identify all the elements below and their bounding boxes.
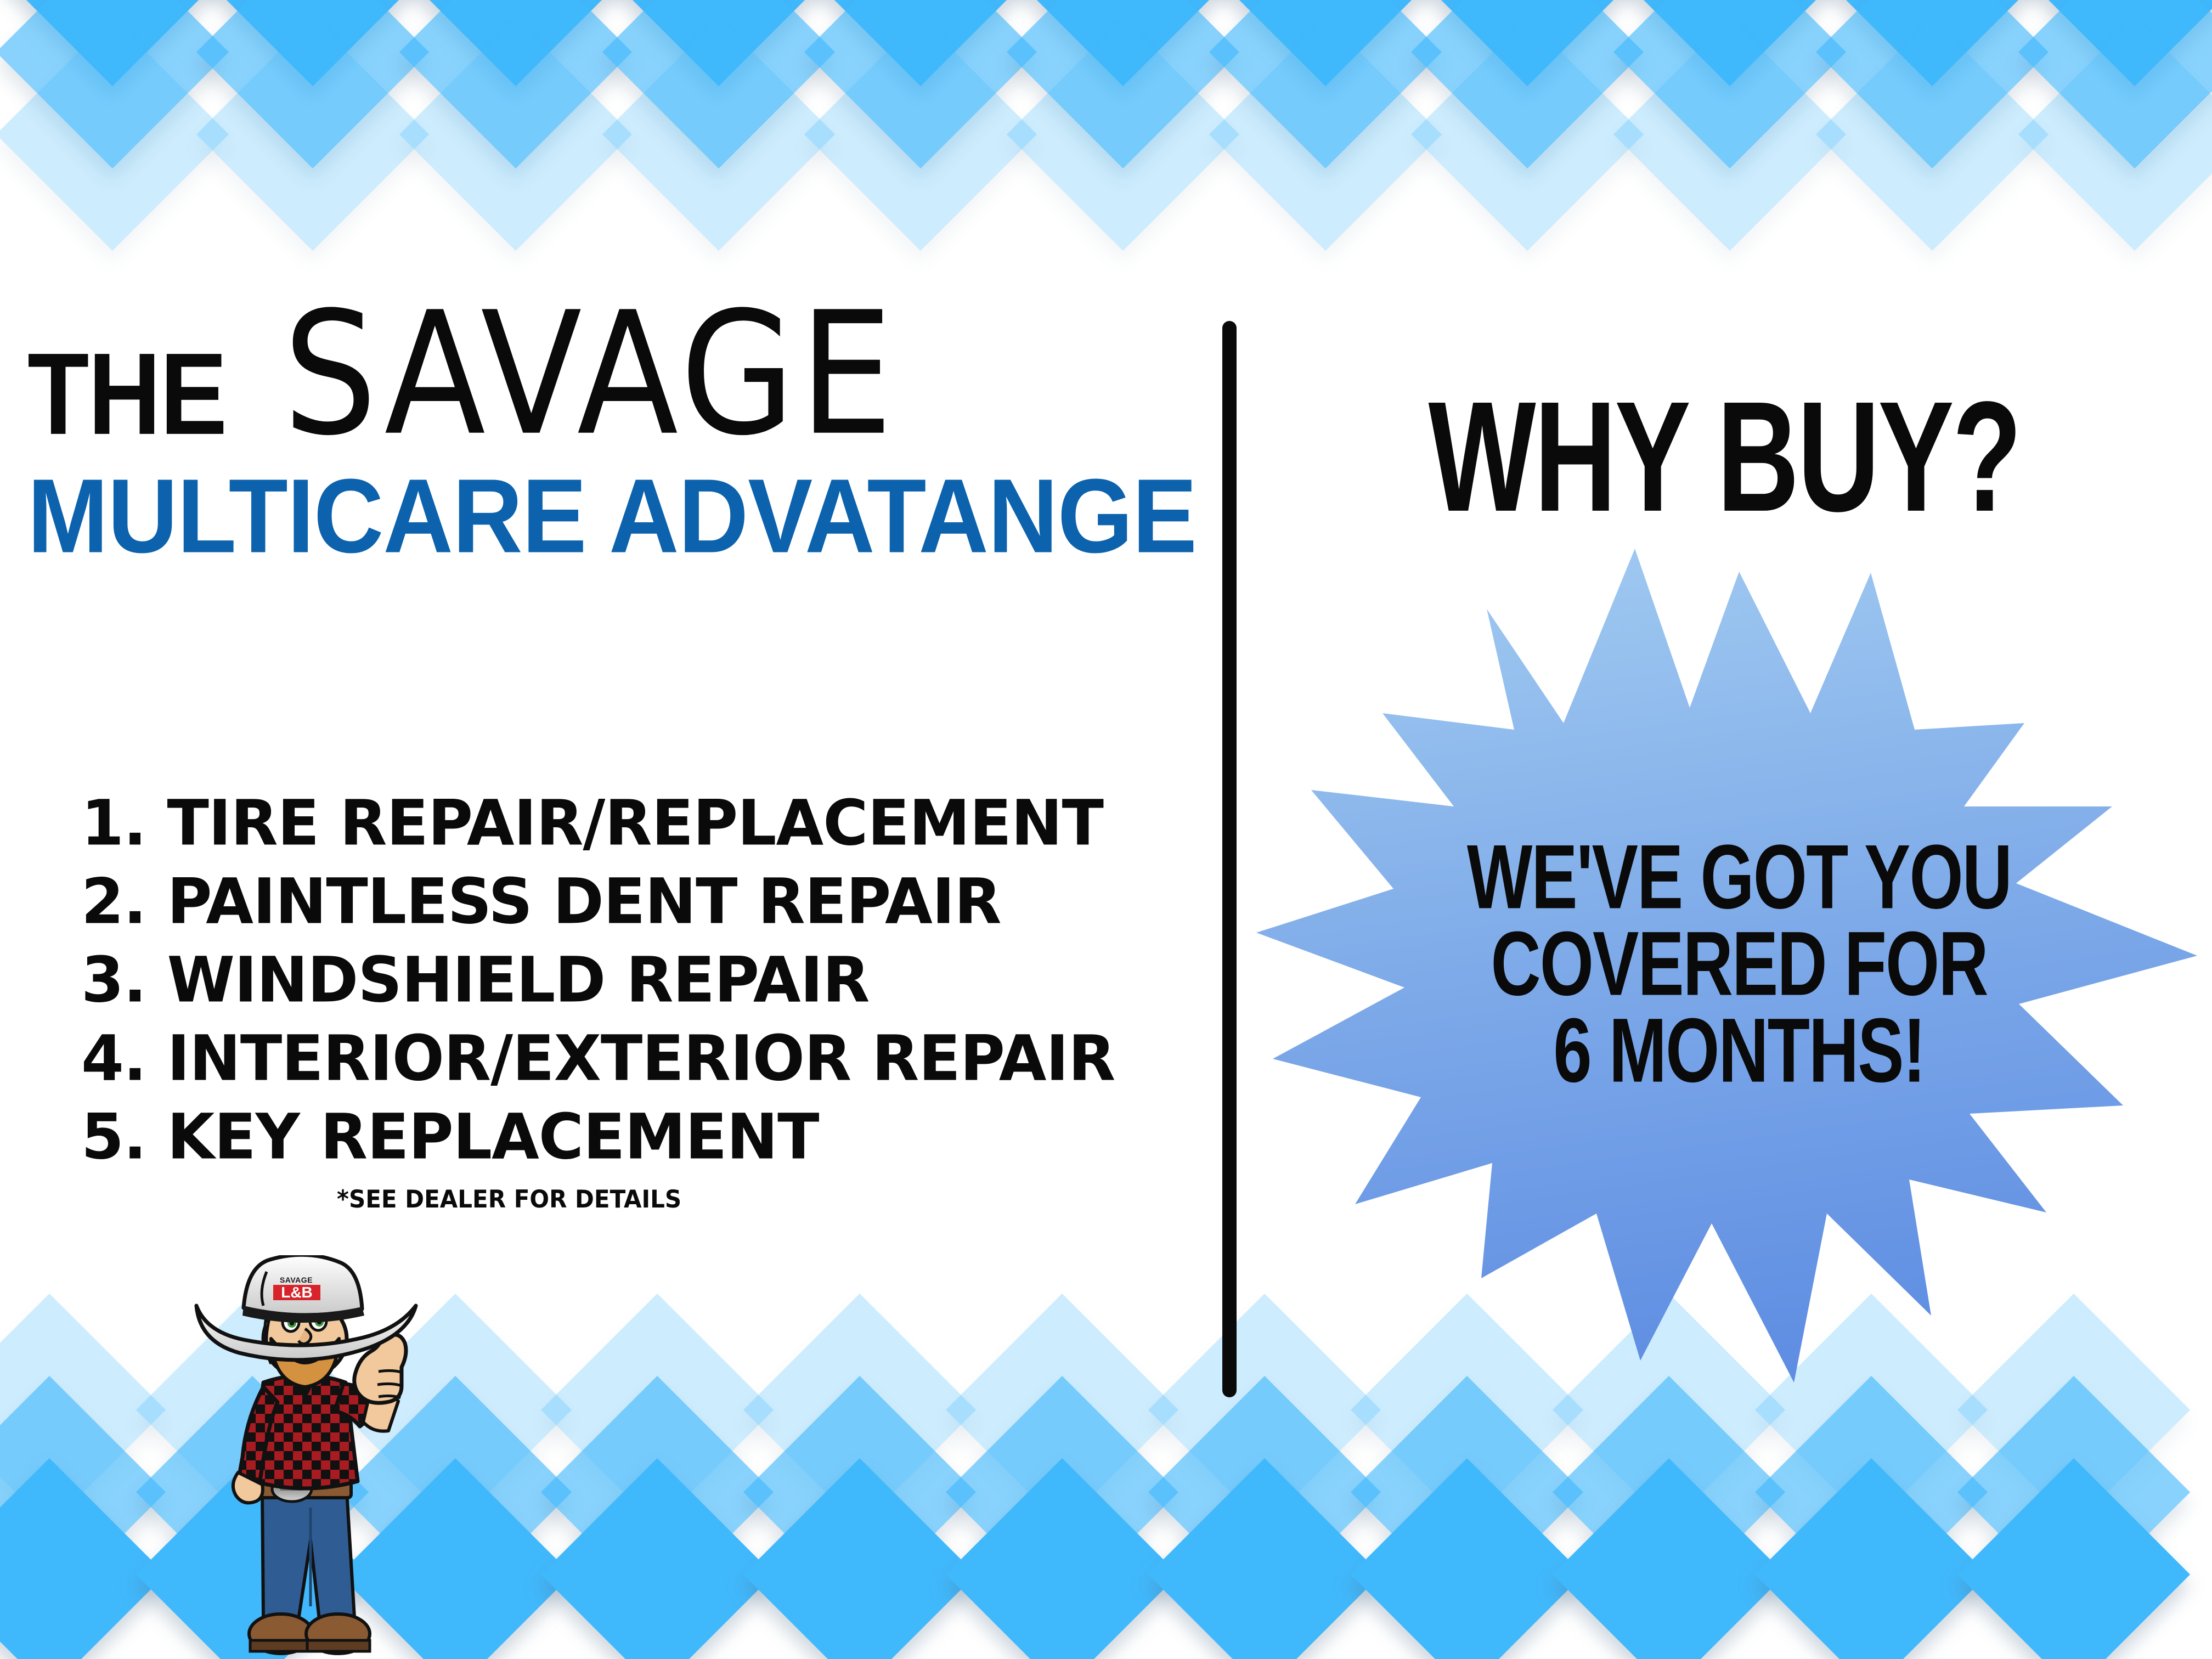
- disclaimer-text: *SEE DEALER FOR DETAILS: [337, 1185, 681, 1213]
- hat-logo-lb-text: L&B: [281, 1284, 313, 1301]
- list-item: 2. PAINTLESS DENT REPAIR: [81, 862, 1178, 943]
- list-item: 1. TIRE REPAIR/REPLACEMENT: [81, 784, 1178, 864]
- burst-line-1: WE'VE GOT YOU: [1246, 834, 2212, 921]
- cowboy-mascot-icon: SAVAGE L&B: [181, 1255, 439, 1659]
- promotional-poster: THE SAVAGE MULTICARE ADVATANGE 1. TIRE R…: [0, 0, 2212, 1659]
- brand-name-savage: SAVAGE: [283, 306, 898, 444]
- brand-prefix-the: THE: [27, 345, 226, 444]
- page-title: WHY BUY?: [1207, 379, 2212, 535]
- brand-primary-line: THE SAVAGE: [27, 313, 1190, 444]
- burst-message: WE'VE GOT YOU COVERED FOR 6 MONTHS!: [1246, 834, 2212, 1094]
- hat-logo-savage-text: SAVAGE: [280, 1276, 313, 1284]
- benefits-list: 1. TIRE REPAIR/REPLACEMENT 2. PAINTLESS …: [81, 785, 1178, 1177]
- list-item: 3. WINDSHIELD REPAIR: [81, 941, 1178, 1021]
- list-item: 5. KEY REPLACEMENT: [81, 1098, 1178, 1178]
- starburst-badge: WE'VE GOT YOU COVERED FOR 6 MONTHS!: [1256, 549, 2212, 1388]
- list-item: 4. INTERIOR/EXTERIOR REPAIR: [81, 1019, 1178, 1099]
- burst-line-3: 6 MONTHS!: [1246, 1007, 2212, 1094]
- left-panel: THE SAVAGE MULTICARE ADVATANGE 1. TIRE R…: [0, 0, 1222, 1659]
- brand-lockup: THE SAVAGE MULTICARE ADVATANGE: [27, 313, 1190, 545]
- right-panel: WHY BUY? WE'VE GOT YOU COVERED FOR 6 MON…: [1237, 0, 2212, 1659]
- burst-line-2: COVERED FOR: [1246, 921, 2212, 1007]
- brand-subtitle: MULTICARE ADVATANGE: [27, 463, 1400, 568]
